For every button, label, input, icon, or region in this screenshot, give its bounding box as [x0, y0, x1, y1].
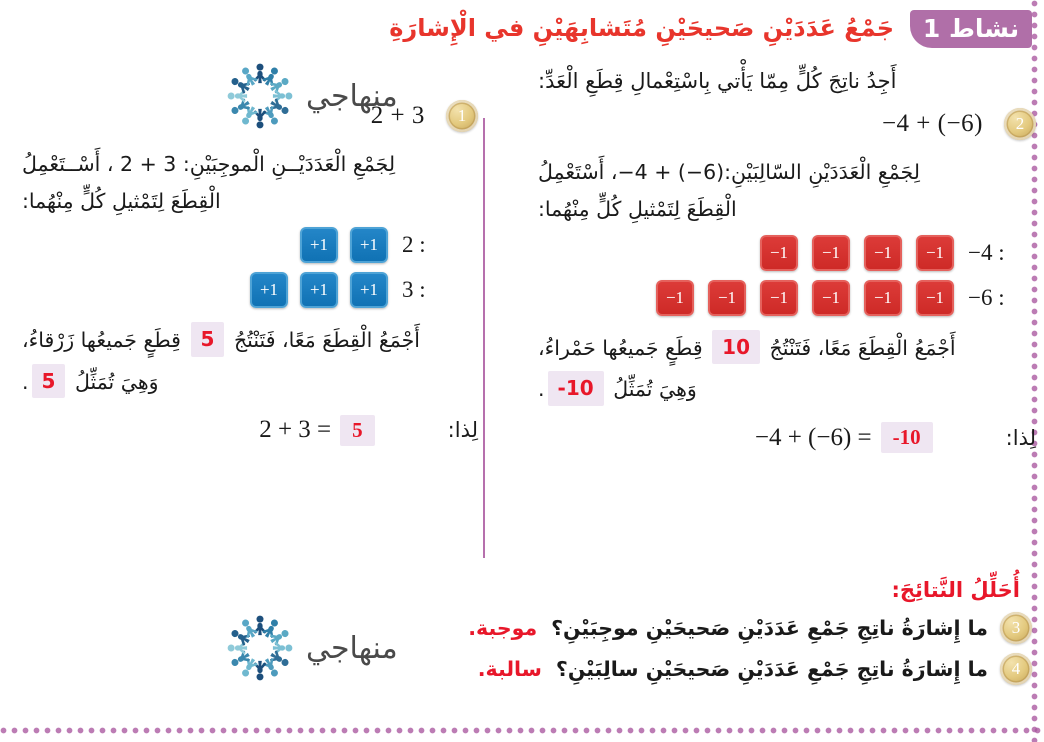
- question-text: ما إِشارَةُ ناتِجِ جَمْعِ عَدَدَيْنِ صَح…: [556, 657, 988, 681]
- conclusion-count-value: 10: [712, 330, 760, 364]
- problem-item-2: 2 −4 + (−6): [524, 108, 1036, 152]
- conclusion-line-1: أَجْمَعُ الْقِطَعَ مَعًا، فَتَنْتُجُ 10 …: [524, 330, 1036, 365]
- represents-suffix: .: [538, 377, 545, 401]
- counter-chip: +1: [250, 272, 288, 308]
- result-expression: −4 + (−6) =: [755, 424, 872, 452]
- conclusion-count-value: 5: [191, 322, 225, 356]
- counter-chip: +1: [300, 272, 338, 308]
- counter-row-label: −6 :: [968, 285, 1014, 311]
- represents-prefix: وَهِيَ تُمَثِّلُ: [613, 377, 697, 401]
- counter-chip: −1: [656, 280, 694, 316]
- column-right: أَجِدُ ناتِجَ كُلٍّ مِمّا يَأْتي بِاسْتِ…: [524, 66, 1036, 453]
- conclusion-text-part2: قِطَعٍ جَميعُها حَمْراءُ،: [538, 336, 703, 360]
- result-value: 5: [340, 415, 375, 446]
- counter-chip: +1: [350, 227, 388, 263]
- counter-row-label: 2 :: [402, 232, 448, 258]
- page-canvas: نشاط 1 جَمْعُ عَدَدَيْنِ صَحيحَيْنِ مُتَ…: [0, 0, 1044, 742]
- counter-chip-row: −6 :−1−1−1−1−1−1: [524, 280, 1036, 316]
- counter-chip-row: 2 :+1+1: [8, 227, 478, 263]
- conclusion-line-2: وَهِيَ تُمَثِّلُ -10.: [524, 371, 1036, 406]
- question-text: ما إِشارَةُ ناتِجِ جَمْعِ عَدَدَيْنِ صَح…: [551, 616, 988, 640]
- analysis-question-list: 3ما إِشارَةُ ناتِجِ جَمْعِ عَدَدَيْنِ صَ…: [56, 612, 1036, 685]
- counter-chip: −1: [708, 280, 746, 316]
- page-header: نشاط 1 جَمْعُ عَدَدَيْنِ صَحيحَيْنِ مُتَ…: [0, 6, 1044, 58]
- result-expression: 2 + 3 =: [259, 416, 331, 444]
- result-label: لِذا:: [1006, 426, 1036, 450]
- counter-chip-row: −4 :−1−1−1−1: [524, 235, 1036, 271]
- result-equation: 2 + 3 = 5: [259, 415, 377, 446]
- result-equation: −4 + (−6) = -10: [755, 422, 936, 453]
- question-answer: موجبة.: [468, 616, 537, 640]
- column-left: 1 2 + 3 لِجَمْعِ الْعَدَدَيْــنِ الْموجِ…: [8, 66, 478, 446]
- represents-value: 5: [32, 364, 66, 398]
- conclusion-line-2: وَهِيَ تُمَثِّلُ 5.: [8, 364, 478, 399]
- counter-chip: −1: [864, 235, 902, 271]
- counter-chip: −1: [916, 235, 954, 271]
- page-bottom-dotted-border: [0, 727, 1044, 734]
- analysis-question-row: 3ما إِشارَةُ ناتِجِ جَمْعِ عَدَدَيْنِ صَ…: [56, 612, 1036, 644]
- counter-chip: +1: [350, 272, 388, 308]
- instruction-text: أَجِدُ ناتِجَ كُلٍّ مِمّا يَأْتي بِاسْتِ…: [524, 66, 1036, 98]
- chip-group-negative: −4 :−1−1−1−1−6 :−1−1−1−1−1−1: [524, 235, 1036, 316]
- conclusion-text-part1: أَجْمَعُ الْقِطَعَ مَعًا، فَتَنْتُجُ: [770, 336, 956, 360]
- column-divider: [483, 118, 485, 558]
- counter-row-label: −4 :: [968, 240, 1014, 266]
- problem-expression: 2 + 3: [371, 102, 425, 130]
- counter-chip: −1: [760, 235, 798, 271]
- explanation-line-1: لِجَمْعِ الْعَدَدَيْنِ السّالِبَيْنِ:(6−…: [524, 156, 1036, 189]
- represents-suffix: .: [22, 370, 29, 394]
- counter-chip: −1: [812, 235, 850, 271]
- item-number-badge: 1: [446, 100, 478, 132]
- result-label: لِذا:: [448, 418, 478, 442]
- counter-chip: −1: [864, 280, 902, 316]
- problem-expression: −4 + (−6): [882, 110, 983, 138]
- represents-prefix: وَهِيَ تُمَثِّلُ: [75, 370, 159, 394]
- counter-chip: −1: [916, 280, 954, 316]
- conclusion-text-part1: أَجْمَعُ الْقِطَعَ مَعًا، فَتَنْتُجُ: [234, 328, 420, 352]
- conclusion-text-part2: قِطَعٍ جَميعُها زَرْقاءُ،: [22, 328, 181, 352]
- activity-badge: نشاط 1: [910, 10, 1032, 48]
- explanation-line-2: الْقِطَعَ لِتَمْثيلِ كُلٍّ مِنْهُما:: [8, 185, 478, 218]
- analysis-title: أُحَلِّلُ النَّتائِجَ:: [56, 578, 1036, 602]
- counter-chip: −1: [760, 280, 798, 316]
- result-line: لِذا: −4 + (−6) = -10: [524, 422, 1036, 453]
- analysis-question-row: 4ما إِشارَةُ ناتِجِ جَمْعِ عَدَدَيْنِ صَ…: [56, 653, 1036, 685]
- question-number-badge: 3: [1000, 612, 1032, 644]
- represents-value: -10: [548, 371, 604, 405]
- problem-item-1: 1 2 + 3: [8, 100, 478, 144]
- counter-row-label: 3 :: [402, 277, 448, 303]
- chip-group-positive: 2 :+1+13 :+1+1+1: [8, 227, 478, 308]
- activity-title: جَمْعُ عَدَدَيْنِ صَحيحَيْنِ مُتَشابِهَي…: [389, 14, 894, 42]
- counter-chip-row: 3 :+1+1+1: [8, 272, 478, 308]
- explanation-line-1: لِجَمْعِ الْعَدَدَيْــنِ الْموجِبَيْنِ: …: [8, 148, 478, 181]
- result-line: لِذا: 2 + 3 = 5: [8, 415, 478, 446]
- result-value: -10: [881, 422, 933, 453]
- analysis-section: أُحَلِّلُ النَّتائِجَ: 3ما إِشارَةُ ناتِ…: [56, 578, 1036, 694]
- conclusion-line-1: أَجْمَعُ الْقِطَعَ مَعًا، فَتَنْتُجُ 5 ق…: [8, 322, 478, 357]
- question-number-badge: 4: [1000, 653, 1032, 685]
- counter-chip: +1: [300, 227, 338, 263]
- question-answer: سالبة.: [478, 657, 542, 681]
- item-number-badge: 2: [1004, 108, 1036, 140]
- explanation-line-2: الْقِطَعَ لِتَمْثيلِ كُلٍّ مِنْهُما:: [524, 193, 1036, 226]
- counter-chip: −1: [812, 280, 850, 316]
